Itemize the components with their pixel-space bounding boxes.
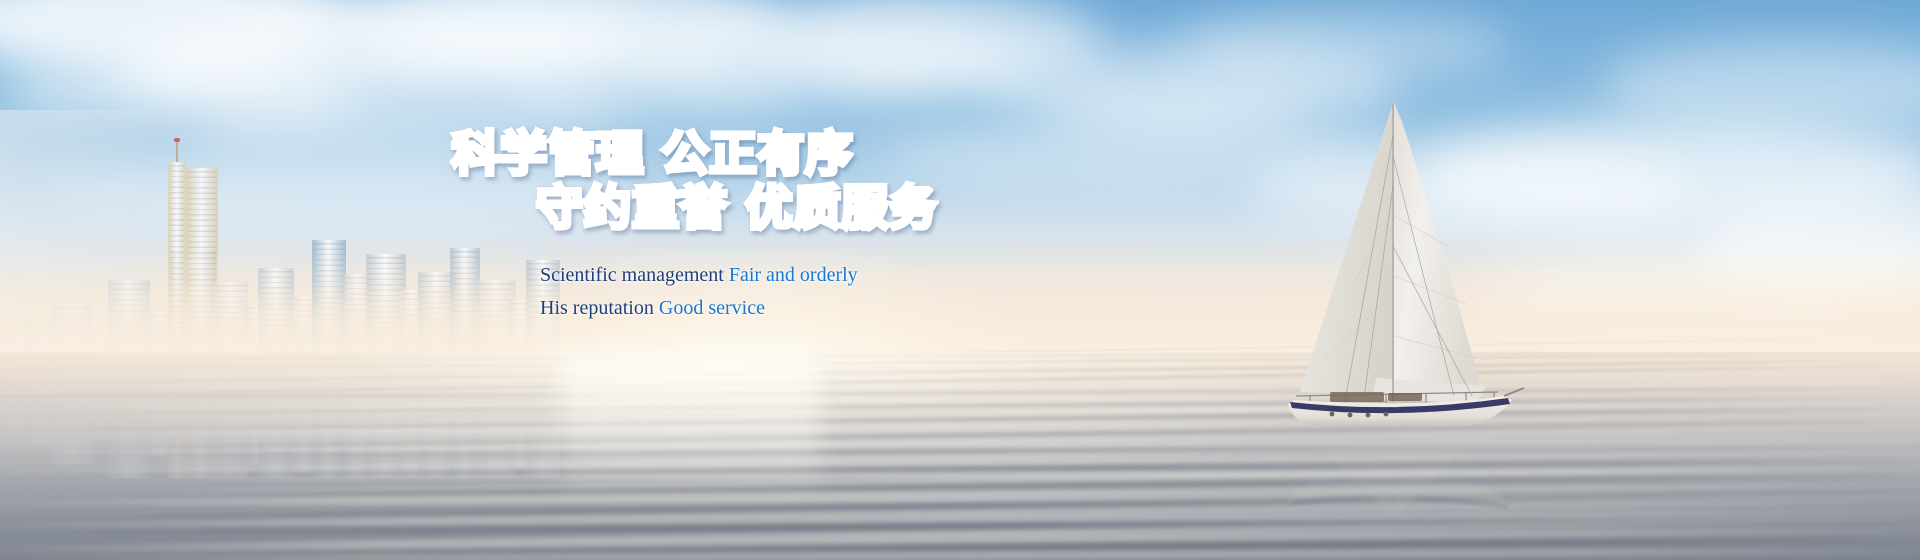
city-reflection [0,368,560,478]
building [352,368,372,434]
building [344,368,372,494]
cloud-shape [1180,10,1510,80]
headline-line-1: 科学管理 公正有序 [448,128,1148,182]
building-windows [216,368,246,483]
building [0,368,34,428]
building [244,368,270,464]
tower-antenna [176,140,178,162]
building [400,368,424,478]
building-windows [90,368,112,435]
building-windows [54,368,90,461]
cloud-shape [1050,80,1310,135]
building-windows [478,368,514,485]
building-windows [438,368,452,419]
building [88,368,114,438]
sailboat-reflection-graphic [1276,424,1526,514]
cabin [1330,392,1384,402]
building [476,368,516,488]
building-windows [246,368,268,461]
building [26,368,56,444]
building-windows [294,368,316,469]
building-windows [510,368,532,465]
sailboat [1276,96,1526,426]
headline-line-1-text: 科学管理 公正有序 [452,127,853,182]
subtitle-line-1-part-1: Scientific management [540,264,729,286]
building-windows [234,368,250,427]
building [496,368,516,426]
building [418,368,456,496]
sailboat-graphic [1276,96,1526,426]
building [146,368,176,456]
mainsail [1394,102,1482,396]
building-windows [288,368,302,423]
building-windows [110,368,148,485]
building [436,368,454,422]
cockpit [1388,393,1422,401]
building [68,368,86,414]
subtitle-line-2-part-2: Good service [659,297,765,319]
subtitle-line-2: His reputation Good service [448,295,1148,321]
building-windows [2,368,32,425]
building-windows [148,368,174,453]
hero-banner: 科学管理 公正有序 守约重誉 优质服务 Scientific managemen… [0,0,1920,560]
building-windows [346,368,370,491]
subtitle-line-2-part-1: His reputation [540,297,659,319]
building-windows [354,368,370,431]
building [286,368,304,426]
building-windows [402,368,422,475]
building [214,368,248,486]
sailboat-reflection [1276,424,1526,514]
subtitle-line-1: Scientific management Fair and orderly [448,262,1148,288]
building [14,368,36,412]
building-windows [420,368,454,493]
subtitle-line-1-part-2: Fair and orderly [729,264,858,286]
headline-line-2: 守约重誉 优质服务 [448,182,1148,236]
building [52,368,92,464]
cloud-shape [1480,250,1920,340]
building-windows [70,368,84,411]
building-windows [260,368,292,497]
building-windows [28,368,54,441]
bowsprit [1504,388,1524,396]
building-windows [498,368,514,423]
building [130,368,150,420]
building [108,368,150,488]
building-windows [16,368,34,409]
banner-copy: 科学管理 公正有序 守约重誉 优质服务 Scientific managemen… [448,128,1148,321]
foresail [1300,106,1394,396]
building [508,368,534,468]
building-windows [132,368,148,417]
antenna-tip [174,138,180,142]
cloud-shape [1600,40,1920,130]
building [292,368,318,472]
headline-line-2-text: 守约重誉 优质服务 [536,181,937,236]
building [232,368,252,430]
